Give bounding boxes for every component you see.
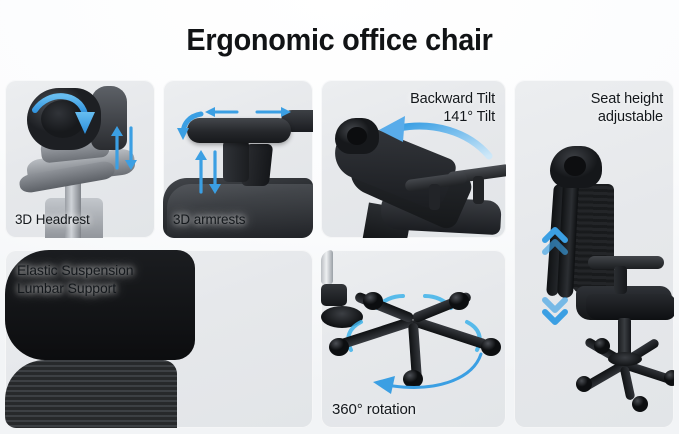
caption-headrest: 3D Headrest	[15, 212, 90, 228]
caption-armrests: 3D armrests	[173, 212, 245, 228]
curved-arrow-icon	[175, 108, 211, 142]
left-right-arrow-icon	[201, 100, 301, 124]
panel-headrest: 3D Headrest	[5, 80, 155, 238]
caption-rotation: 360° rotation	[332, 401, 416, 419]
infographic-page: Ergonomic office chair	[0, 0, 679, 434]
page-title: Ergonomic office chair	[24, 22, 655, 58]
panel-seat-height: Seat height adjustable	[514, 80, 674, 428]
panel-backward-tilt: Backward Tilt 141° Tilt	[321, 80, 506, 238]
caption-backward-tilt: Backward Tilt 141° Tilt	[410, 91, 495, 126]
caption-seat-height: Seat height adjustable	[591, 91, 663, 126]
panel-rotation: 360° rotation	[321, 250, 506, 428]
panel-lumbar-support: Elastic Suspension Lumbar Support	[5, 250, 313, 428]
chevron-down-arrow-icon	[540, 294, 570, 328]
caption-lumbar-support: Elastic Suspension Lumbar Support	[17, 262, 134, 297]
panel-armrests: 3D armrests	[163, 80, 313, 238]
up-down-arrow-icon	[193, 148, 223, 196]
chevron-up-arrow-icon	[540, 226, 570, 260]
up-down-arrow-icon	[109, 124, 139, 172]
seat-height-illustration	[514, 80, 674, 428]
